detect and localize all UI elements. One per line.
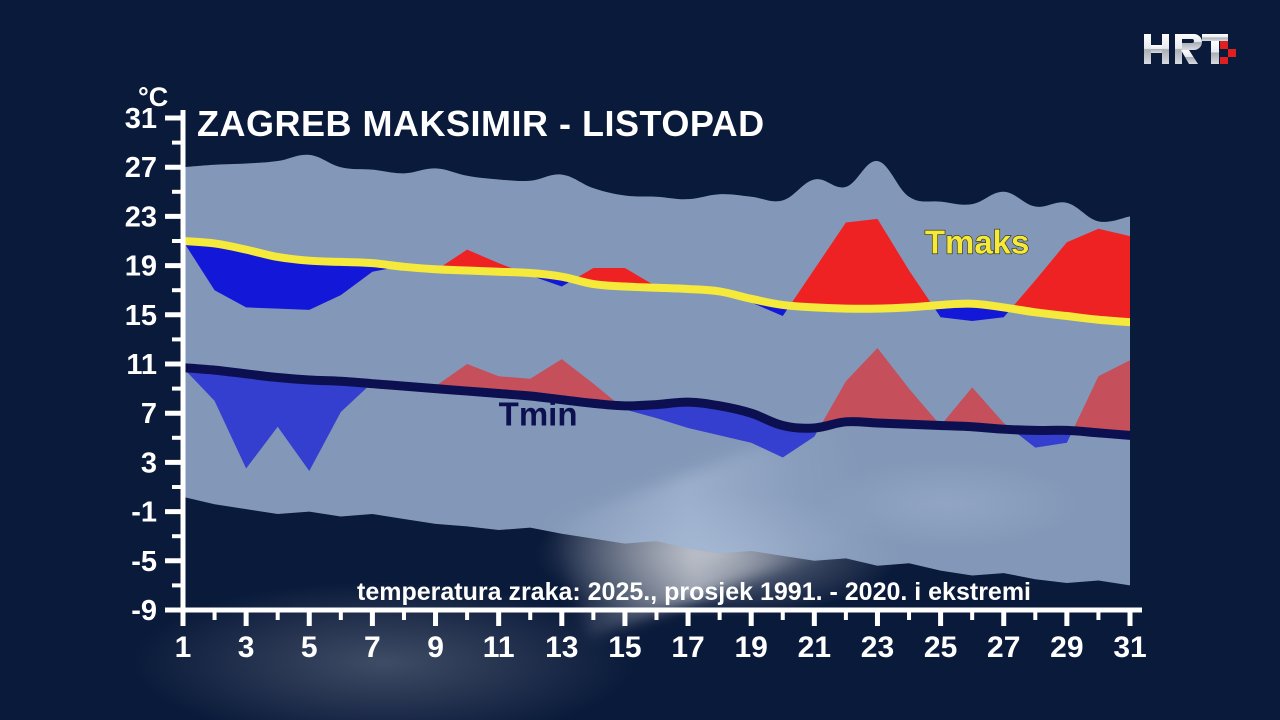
y-tick-label-15: 15 (125, 300, 157, 332)
y-tick-label-23: 23 (125, 201, 157, 233)
x-tick-label-9: 9 (427, 631, 444, 664)
y-tick-label-27: 27 (125, 152, 157, 184)
x-tick-label-7: 7 (364, 631, 381, 664)
x-tick-label-13: 13 (545, 631, 578, 664)
y-axis-unit-label: °C (138, 82, 168, 112)
x-tick-label-3: 3 (238, 631, 255, 664)
temperature-chart: 31272319151173-1-5-913579111315171921232… (0, 0, 1280, 720)
x-tick-label-31: 31 (1113, 631, 1146, 664)
x-tick-label-29: 29 (1050, 631, 1083, 664)
x-tick-label-19: 19 (735, 631, 768, 664)
x-tick-label-1: 1 (175, 631, 192, 664)
x-tick-label-23: 23 (861, 631, 894, 664)
x-tick-label-17: 17 (671, 631, 704, 664)
series-annotation-tmin: Tmin (499, 396, 578, 433)
y-tick-label--9: -9 (131, 595, 157, 627)
series-annotation-tmaks: Tmaks (925, 223, 1030, 260)
x-tick-label-5: 5 (301, 631, 318, 664)
chart-title: ZAGREB MAKSIMIR - LISTOPAD (197, 103, 765, 144)
broadcast-weather-graphic: 31272319151173-1-5-913579111315171921232… (0, 0, 1280, 720)
chart-caption: temperatura zraka: 2025., prosjek 1991. … (357, 578, 1031, 606)
extremes-band-layer (183, 155, 1130, 586)
y-tick-label-11: 11 (126, 349, 157, 381)
x-tick-label-21: 21 (798, 631, 831, 664)
y-tick-label-19: 19 (125, 251, 157, 283)
y-tick-label-7: 7 (141, 398, 157, 430)
y-tick-label-3: 3 (141, 447, 157, 479)
chart-svg: 31272319151173-1-5-913579111315171921232… (0, 0, 1280, 720)
x-tick-label-25: 25 (924, 631, 957, 664)
x-tick-label-15: 15 (608, 631, 641, 664)
x-tick-label-27: 27 (987, 631, 1020, 664)
extremes-band-area (183, 155, 1130, 586)
y-tick-label--1: -1 (131, 497, 157, 529)
x-tick-label-11: 11 (483, 631, 515, 664)
y-tick-label--5: -5 (131, 546, 157, 578)
